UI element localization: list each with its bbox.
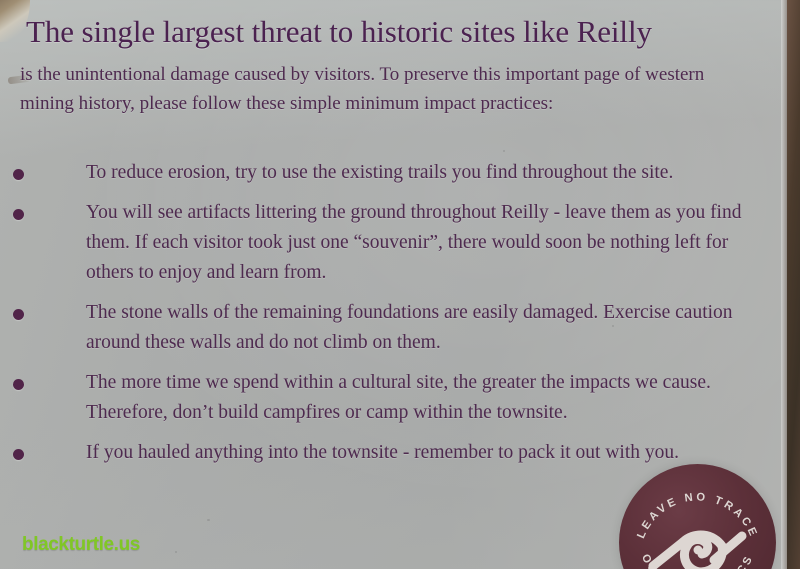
sign-intro-paragraph: is the unintentional damage caused by vi… [20,60,762,118]
bullet-icon [13,169,24,180]
practice-text: The stone walls of the remaining foundat… [86,302,733,353]
list-item: If you hauled anything into the townsite… [0,438,790,468]
bullet-icon [13,209,24,220]
practice-text: If you hauled anything into the townsite… [86,442,679,463]
minimum-impact-practices-list: To reduce erosion, try to use the existi… [0,158,790,478]
leave-no-trace-badge: LEAVE NO TRACE OUTDOOR ETHICS [619,464,776,569]
bullet-icon [13,449,24,460]
bullet-icon [13,379,24,390]
practice-text: To reduce erosion, try to use the existi… [86,162,673,183]
list-item: The stone walls of the remaining foundat… [0,298,790,358]
watermark-text: blackturtle.us [22,534,140,556]
list-item: The more time we spend within a cultural… [0,368,790,428]
practice-text: You will see artifacts littering the gro… [86,202,741,283]
interpretive-sign-photo: The single largest threat to historic si… [0,0,800,569]
list-item: To reduce erosion, try to use the existi… [0,158,790,188]
spiral-center-dot [694,546,703,555]
bullet-icon [13,309,24,320]
sign-headline: The single largest threat to historic si… [26,14,756,50]
list-item: You will see artifacts littering the gro… [0,198,790,288]
practice-text: The more time we spend within a cultural… [86,372,711,423]
